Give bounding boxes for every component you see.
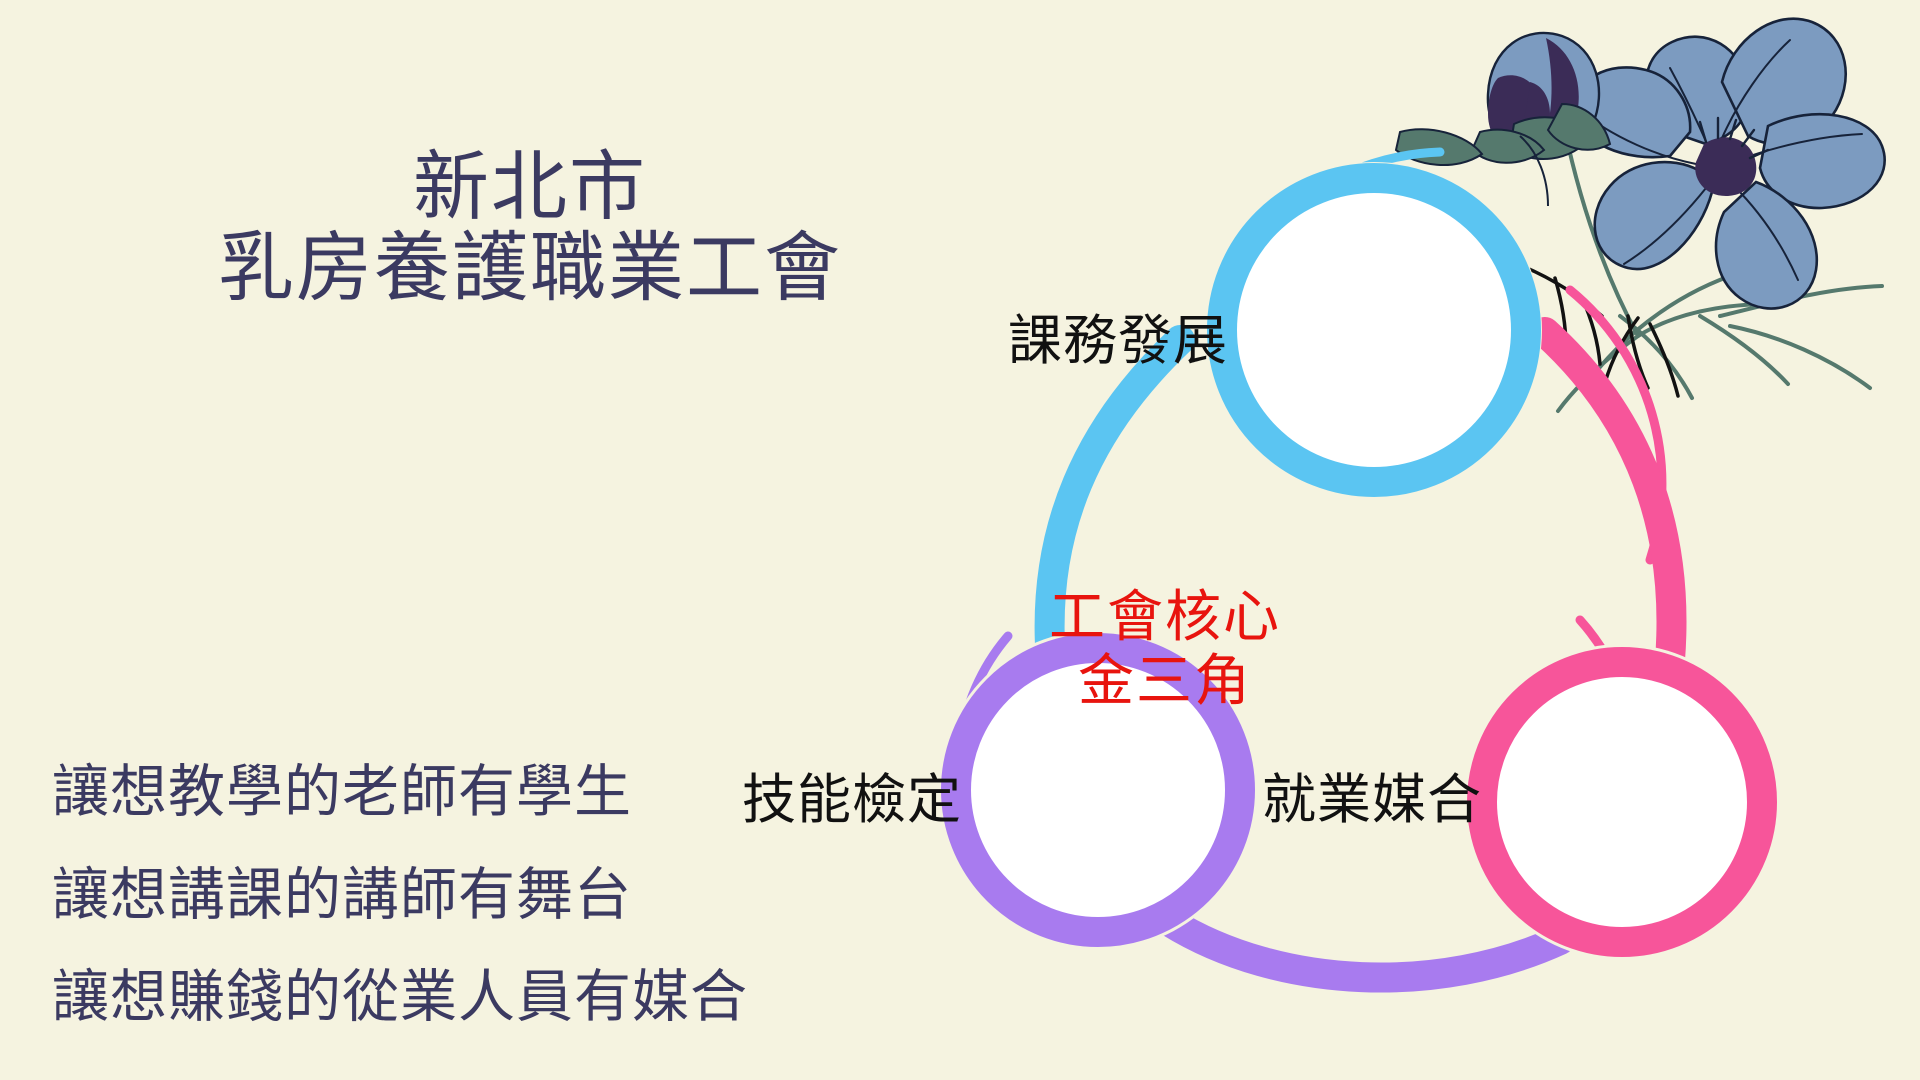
tagline-item-3: 讓想賺錢的從業人員有媒合: [52, 947, 972, 1050]
node-top-ring: [1222, 178, 1526, 482]
center-core-label: 工會核心 金三角: [1000, 585, 1330, 714]
title-line-2: 乳房養護職業工會: [150, 229, 910, 310]
node-label-right: 就業媒合: [1262, 755, 1482, 834]
page-title: 新北市 乳房養護職業工會: [150, 148, 910, 309]
center-label-line-1: 工會核心: [1000, 585, 1330, 649]
center-label-line-2: 金三角: [1000, 649, 1330, 713]
connector-left-right: [1170, 922, 1560, 978]
connector-top-right: [1545, 332, 1671, 660]
node-label-left: 技能檢定: [742, 755, 962, 834]
node-label-top: 課務發展: [1008, 296, 1228, 375]
slide-canvas: 新北市 乳房養護職業工會 讓想教學的老師有學生 讓想講課的講師有舞台 讓想賺錢的…: [0, 0, 1920, 1080]
title-line-1: 新北市: [150, 148, 910, 229]
node-right-ring: [1482, 662, 1762, 942]
core-triangle-diagram: 課務發展 技能檢定 就業媒合: [880, 60, 1920, 1080]
tagline-item-2: 讓想講課的講師有舞台: [52, 845, 972, 948]
